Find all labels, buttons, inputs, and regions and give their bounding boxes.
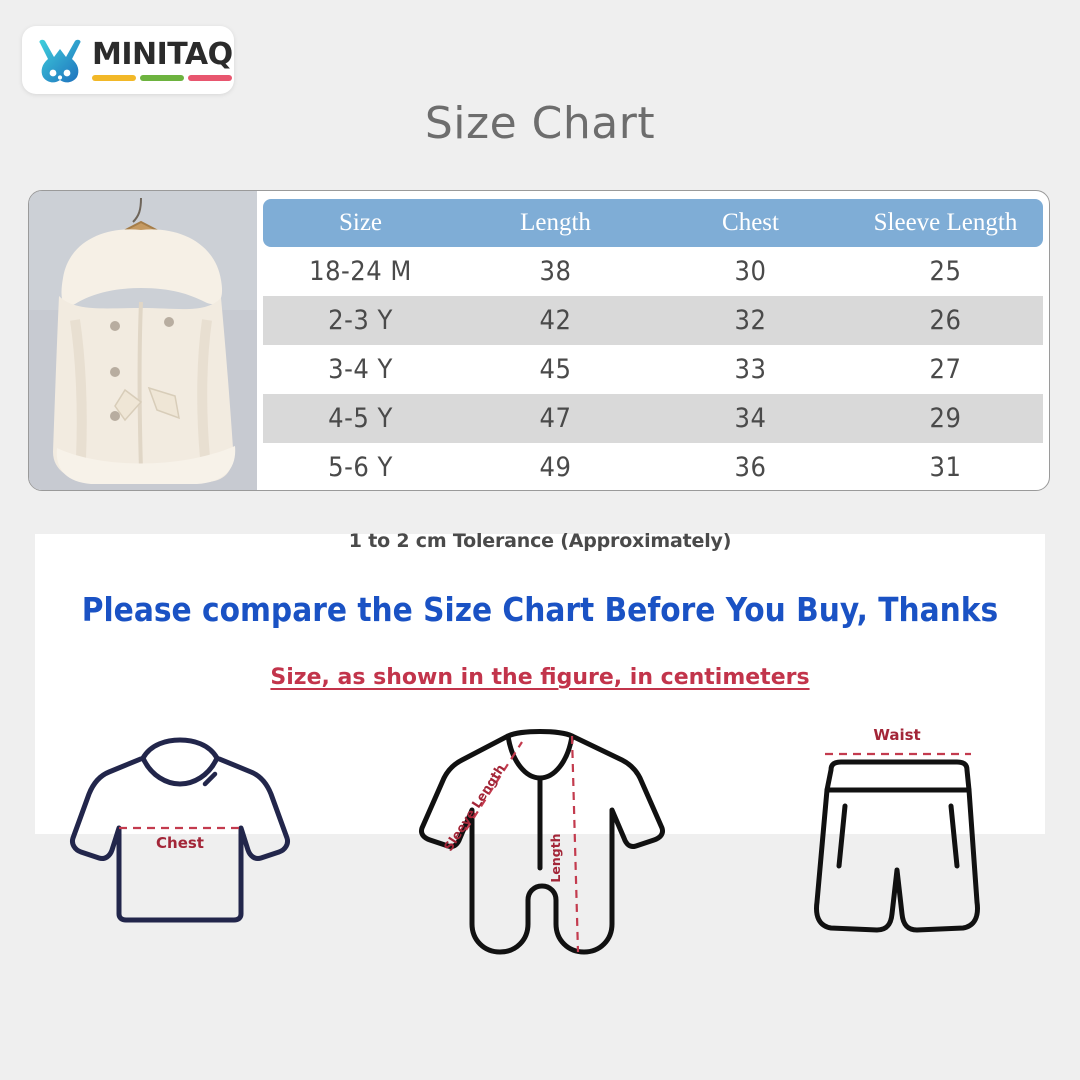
- brand-logo-card: MINITAQ: [22, 26, 234, 94]
- measurement-unit-note: Size, as shown in the figure, in centime…: [0, 665, 1080, 690]
- cell-length: 45: [458, 345, 653, 394]
- column-header-sleeve-length: Sleeve Length: [848, 199, 1043, 247]
- cell-size: 5-6 Y: [263, 443, 458, 491]
- cell-chest: 32: [653, 296, 848, 345]
- brand-accent-bars: [92, 75, 232, 81]
- column-header-size: Size: [263, 199, 458, 247]
- cell-chest: 30: [653, 247, 848, 296]
- brand-name: MINITAQ: [92, 40, 233, 70]
- cell-size: 2-3 Y: [263, 296, 458, 345]
- table-row: 18-24 M 38 30 25: [263, 247, 1043, 296]
- cell-length: 38: [458, 247, 653, 296]
- table-row: 3-4 Y 45 33 27: [263, 345, 1043, 394]
- table-row: 2-3 Y 42 32 26: [263, 296, 1043, 345]
- tshirt-diagram: Chest: [0, 718, 360, 938]
- measurement-unit-note-text: Size, as shown in the figure, in centime…: [270, 665, 809, 690]
- cell-chest: 34: [653, 394, 848, 443]
- cell-length: 49: [458, 443, 653, 491]
- length-label: Length: [548, 833, 563, 882]
- cell-sleeve-length: 26: [848, 296, 1043, 345]
- tshirt-diagram-icon: Chest: [55, 718, 305, 938]
- column-header-chest: Chest: [653, 199, 848, 247]
- romper-diagram-icon: Sleeve Length Length: [400, 718, 680, 968]
- shorts-diagram-icon: Waist: [775, 718, 1025, 948]
- cell-sleeve-length: 25: [848, 247, 1043, 296]
- cell-size: 4-5 Y: [263, 394, 458, 443]
- size-table: Size Length Chest Sleeve Length 18-24 M …: [263, 199, 1043, 491]
- cell-size: 18-24 M: [263, 247, 458, 296]
- table-row: 4-5 Y 47 34 29: [263, 394, 1043, 443]
- cell-chest: 36: [653, 443, 848, 491]
- cell-chest: 33: [653, 345, 848, 394]
- tolerance-note: 1 to 2 cm Tolerance (Approximately): [0, 530, 1080, 552]
- shorts-diagram: Waist: [720, 718, 1080, 948]
- cell-length: 42: [458, 296, 653, 345]
- measurement-diagrams: Chest Sleeve Length Length Waist: [0, 718, 1080, 978]
- cell-length: 47: [458, 394, 653, 443]
- size-table-body: 18-24 M 38 30 25 2-3 Y 42 32 26 3-4 Y 45…: [263, 247, 1043, 491]
- cell-sleeve-length: 27: [848, 345, 1043, 394]
- column-header-length: Length: [458, 199, 653, 247]
- waist-label: Waist: [873, 726, 920, 744]
- cell-sleeve-length: 31: [848, 443, 1043, 491]
- cell-sleeve-length: 29: [848, 394, 1043, 443]
- romper-diagram: Sleeve Length Length: [360, 718, 720, 968]
- page-title: Size Chart: [0, 98, 1080, 149]
- size-chart-card: Size Length Chest Sleeve Length 18-24 M …: [28, 190, 1050, 491]
- bunny-m-logo-icon: [34, 35, 86, 85]
- size-table-header: Size Length Chest Sleeve Length: [263, 199, 1043, 247]
- product-thumbnail-icon: [29, 191, 257, 490]
- chest-label: Chest: [156, 834, 204, 852]
- cell-size: 3-4 Y: [263, 345, 458, 394]
- table-row: 5-6 Y 49 36 31: [263, 443, 1043, 491]
- compare-headline: Please compare the Size Chart Before You…: [0, 590, 1080, 629]
- table-header-row: Size Length Chest Sleeve Length: [263, 199, 1043, 247]
- size-table-wrapper: Size Length Chest Sleeve Length 18-24 M …: [257, 191, 1049, 490]
